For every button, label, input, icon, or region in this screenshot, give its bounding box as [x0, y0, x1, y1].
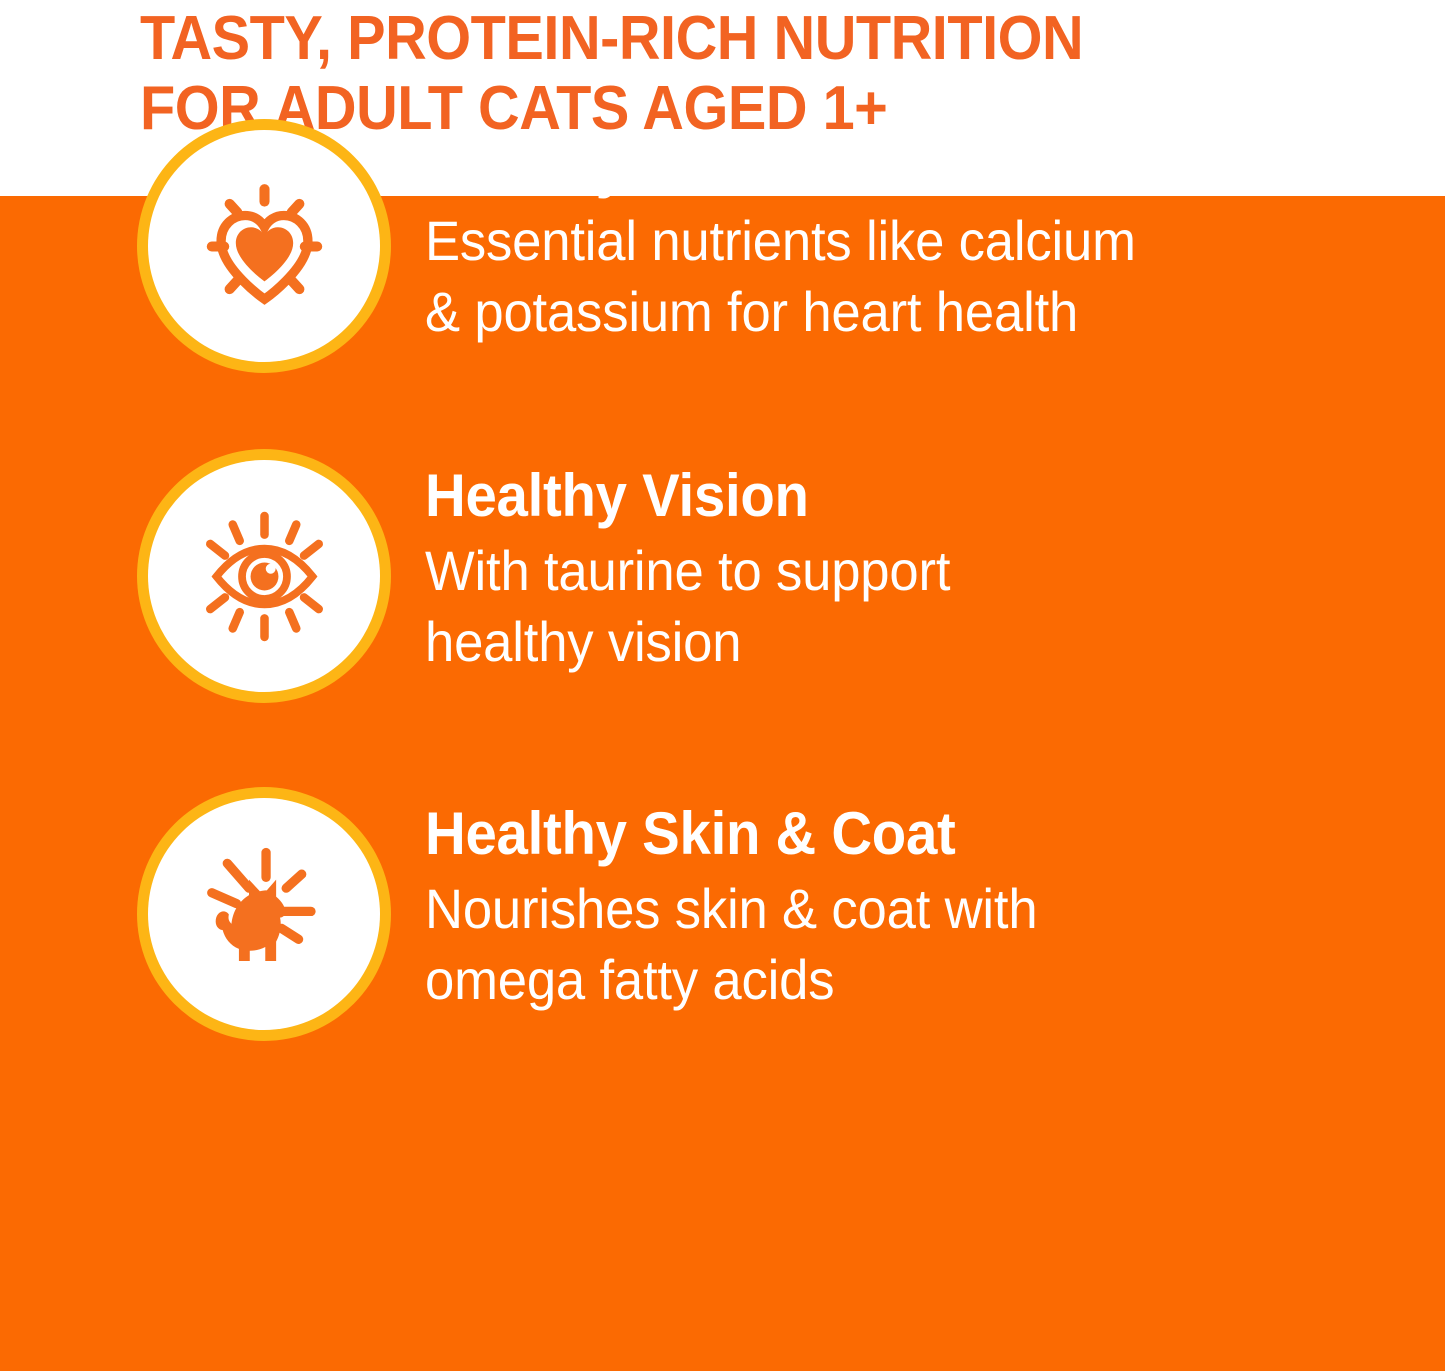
- product-benefits-graphic: TASTY, PROTEIN-RICH NUTRITION FOR ADULT …: [0, 0, 1445, 1371]
- benefit-title: Healthy Vision: [425, 463, 1327, 529]
- benefit-icon-badge: [137, 119, 391, 373]
- benefit-description: Nourishes skin & coat with omega fatty a…: [425, 873, 1327, 1015]
- badge-inner-circle: [148, 460, 380, 692]
- benefit-row: Healthy Skin & Coat Nourishes skin & coa…: [0, 787, 1445, 1087]
- radiant-heart-icon: [187, 169, 342, 324]
- benefit-description: Essential nutrients like calcium & potas…: [425, 205, 1327, 347]
- badge-inner-circle: [148, 798, 380, 1030]
- benefit-copy: Healthy Heart Essential nutrients like c…: [425, 133, 1385, 347]
- benefit-copy: Healthy Skin & Coat Nourishes skin & coa…: [425, 801, 1385, 1015]
- benefit-row: Healthy Heart Essential nutrients like c…: [0, 119, 1445, 419]
- benefit-icon-badge: [137, 449, 391, 703]
- benefit-icon-badge: [137, 787, 391, 1041]
- benefit-copy: Healthy Vision With taurine to support h…: [425, 463, 1385, 677]
- benefit-description: With taurine to support healthy vision: [425, 535, 1327, 677]
- radiant-eye-icon: [187, 499, 342, 654]
- benefit-title: Healthy Heart: [425, 133, 1327, 199]
- benefit-title: Healthy Skin & Coat: [425, 801, 1327, 867]
- radiant-cat-icon: [187, 837, 342, 992]
- benefit-row: Healthy Vision With taurine to support h…: [0, 449, 1445, 749]
- badge-inner-circle: [148, 130, 380, 362]
